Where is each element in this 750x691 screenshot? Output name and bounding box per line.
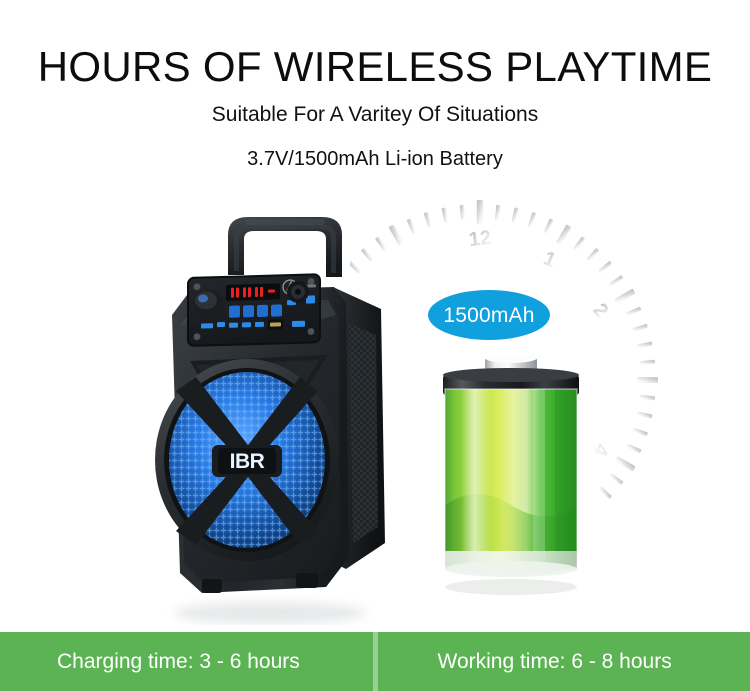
usb-port[interactable] bbox=[268, 319, 283, 329]
battery-shadow bbox=[445, 579, 577, 595]
battery-base bbox=[445, 551, 577, 577]
product-feature-banner: HOURS OF WIRELESS PLAYTIME Suitable For … bbox=[0, 0, 750, 691]
speaker-side-carbon-strip bbox=[349, 323, 378, 543]
capacity-badge-label: 1500mAh bbox=[443, 305, 534, 326]
page-title: HOURS OF WIRELESS PLAYTIME bbox=[0, 44, 750, 90]
page-subtitle: Suitable For A Varitey Of Situations bbox=[0, 103, 750, 127]
dial-hour-4: 4 bbox=[588, 440, 613, 459]
charging-time-cell: Charging time: 3 - 6 hours bbox=[0, 632, 373, 691]
led-display bbox=[226, 283, 280, 301]
woofer-led-grille: IBR bbox=[169, 372, 325, 548]
speaker-carry-handle bbox=[228, 217, 342, 277]
speaker-shadow bbox=[174, 602, 366, 624]
spec-banner: Charging time: 3 - 6 hours Working time:… bbox=[0, 632, 750, 691]
brand-logo-text: IBR bbox=[230, 450, 265, 473]
speaker-product-image: IBR bbox=[150, 205, 415, 625]
dial-hour-1: 1 bbox=[540, 247, 559, 272]
capacity-badge: 1500mAh bbox=[428, 290, 550, 340]
working-time-cell: Working time: 6 - 8 hours bbox=[378, 632, 750, 691]
speaker-control-panel[interactable] bbox=[188, 274, 320, 346]
battery-spec-text: 3.7V/1500mAh Li-ion Battery bbox=[0, 147, 750, 171]
working-time-label: Working time: 6 - 8 hours bbox=[438, 650, 672, 674]
dial-hour-12: 12 bbox=[468, 227, 493, 252]
brand-logo-ibr: IBR bbox=[218, 448, 276, 474]
battery-cell-body bbox=[445, 389, 577, 573]
battery-graphic bbox=[437, 355, 585, 600]
charging-time-label: Charging time: 3 - 6 hours bbox=[57, 650, 300, 674]
dial-hour-2: 2 bbox=[588, 299, 612, 322]
